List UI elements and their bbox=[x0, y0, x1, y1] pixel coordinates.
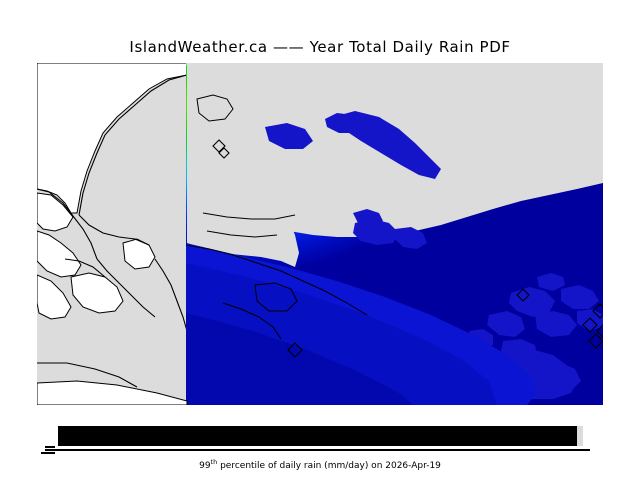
colorbar-axis-line bbox=[45, 449, 590, 451]
caption-description: percentile of daily rain (mm/day) on 202… bbox=[217, 461, 441, 471]
colorbar-over-range-cap bbox=[577, 426, 583, 446]
map-panel[interactable] bbox=[37, 63, 603, 405]
page-title: IslandWeather.ca —— Year Total Daily Rai… bbox=[0, 38, 640, 56]
colorbar-tick-low-secondary bbox=[41, 452, 55, 454]
colorbar-tick-low bbox=[45, 446, 55, 448]
map-canvas[interactable] bbox=[37, 63, 603, 405]
colorbar[interactable] bbox=[58, 426, 583, 446]
colorbar-gradient bbox=[58, 426, 577, 446]
figure-caption: 99th percentile of daily rain (mm/day) o… bbox=[0, 458, 640, 471]
caption-percentile-number: 99 bbox=[199, 461, 210, 471]
